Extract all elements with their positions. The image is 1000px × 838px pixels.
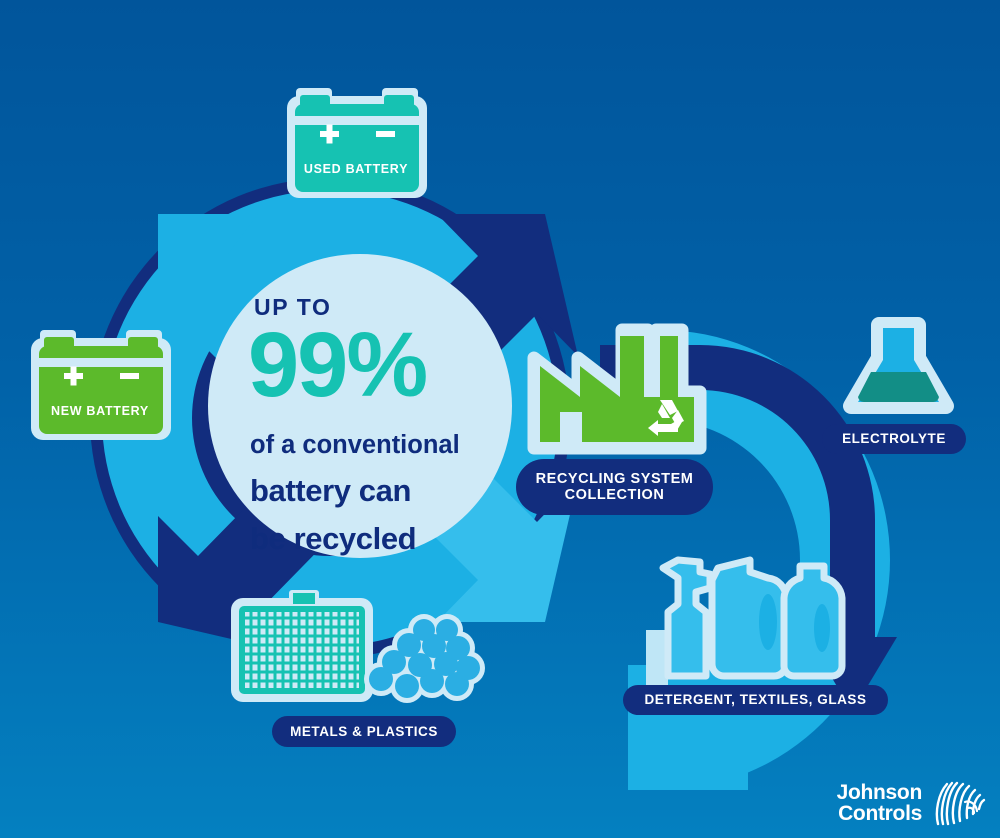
statistic-desc-line-2: battery can <box>250 475 500 507</box>
johnson-controls-logo: Johnson Controls <box>837 780 986 826</box>
fingerprint-swoosh-icon <box>930 780 986 826</box>
logo-line-2: Controls <box>837 803 922 824</box>
statistic-desc-line-1: of a conventional <box>250 432 500 458</box>
new-battery-icon <box>31 330 171 440</box>
lead-grid-pellets-icon <box>231 590 485 703</box>
logo-wordmark: Johnson Controls <box>837 782 922 825</box>
used-battery-label: USED BATTERY <box>292 162 420 176</box>
erlenmeyer-flask-icon <box>851 325 946 406</box>
central-statistic: UP TO 99% of a conventional battery can … <box>232 294 500 572</box>
electrolyte-label: ELECTROLYTE <box>822 424 966 454</box>
metals-plastics-label: METALS & PLASTICS <box>272 716 456 747</box>
logo-line-1: Johnson <box>837 782 922 803</box>
plastic-pellets <box>364 614 485 703</box>
recycling-system-label: RECYCLING SYSTEM COLLECTION <box>516 459 713 515</box>
statistic-value: 99% <box>248 323 500 408</box>
infographic-canvas: USED BATTERY NEW BATTERY UP TO 99% of a … <box>0 0 1000 838</box>
used-battery-icon <box>287 88 427 198</box>
detergent-textiles-glass-label: DETERGENT, TEXTILES, GLASS <box>623 685 888 715</box>
statistic-desc-line-3: be recycled <box>250 523 500 555</box>
new-battery-label: NEW BATTERY <box>36 404 164 418</box>
statistic-description: of a conventional battery can be recycle… <box>250 416 500 572</box>
factory-recycle-icon <box>534 330 700 448</box>
artboard: USED BATTERY NEW BATTERY UP TO 99% of a … <box>0 0 1000 838</box>
